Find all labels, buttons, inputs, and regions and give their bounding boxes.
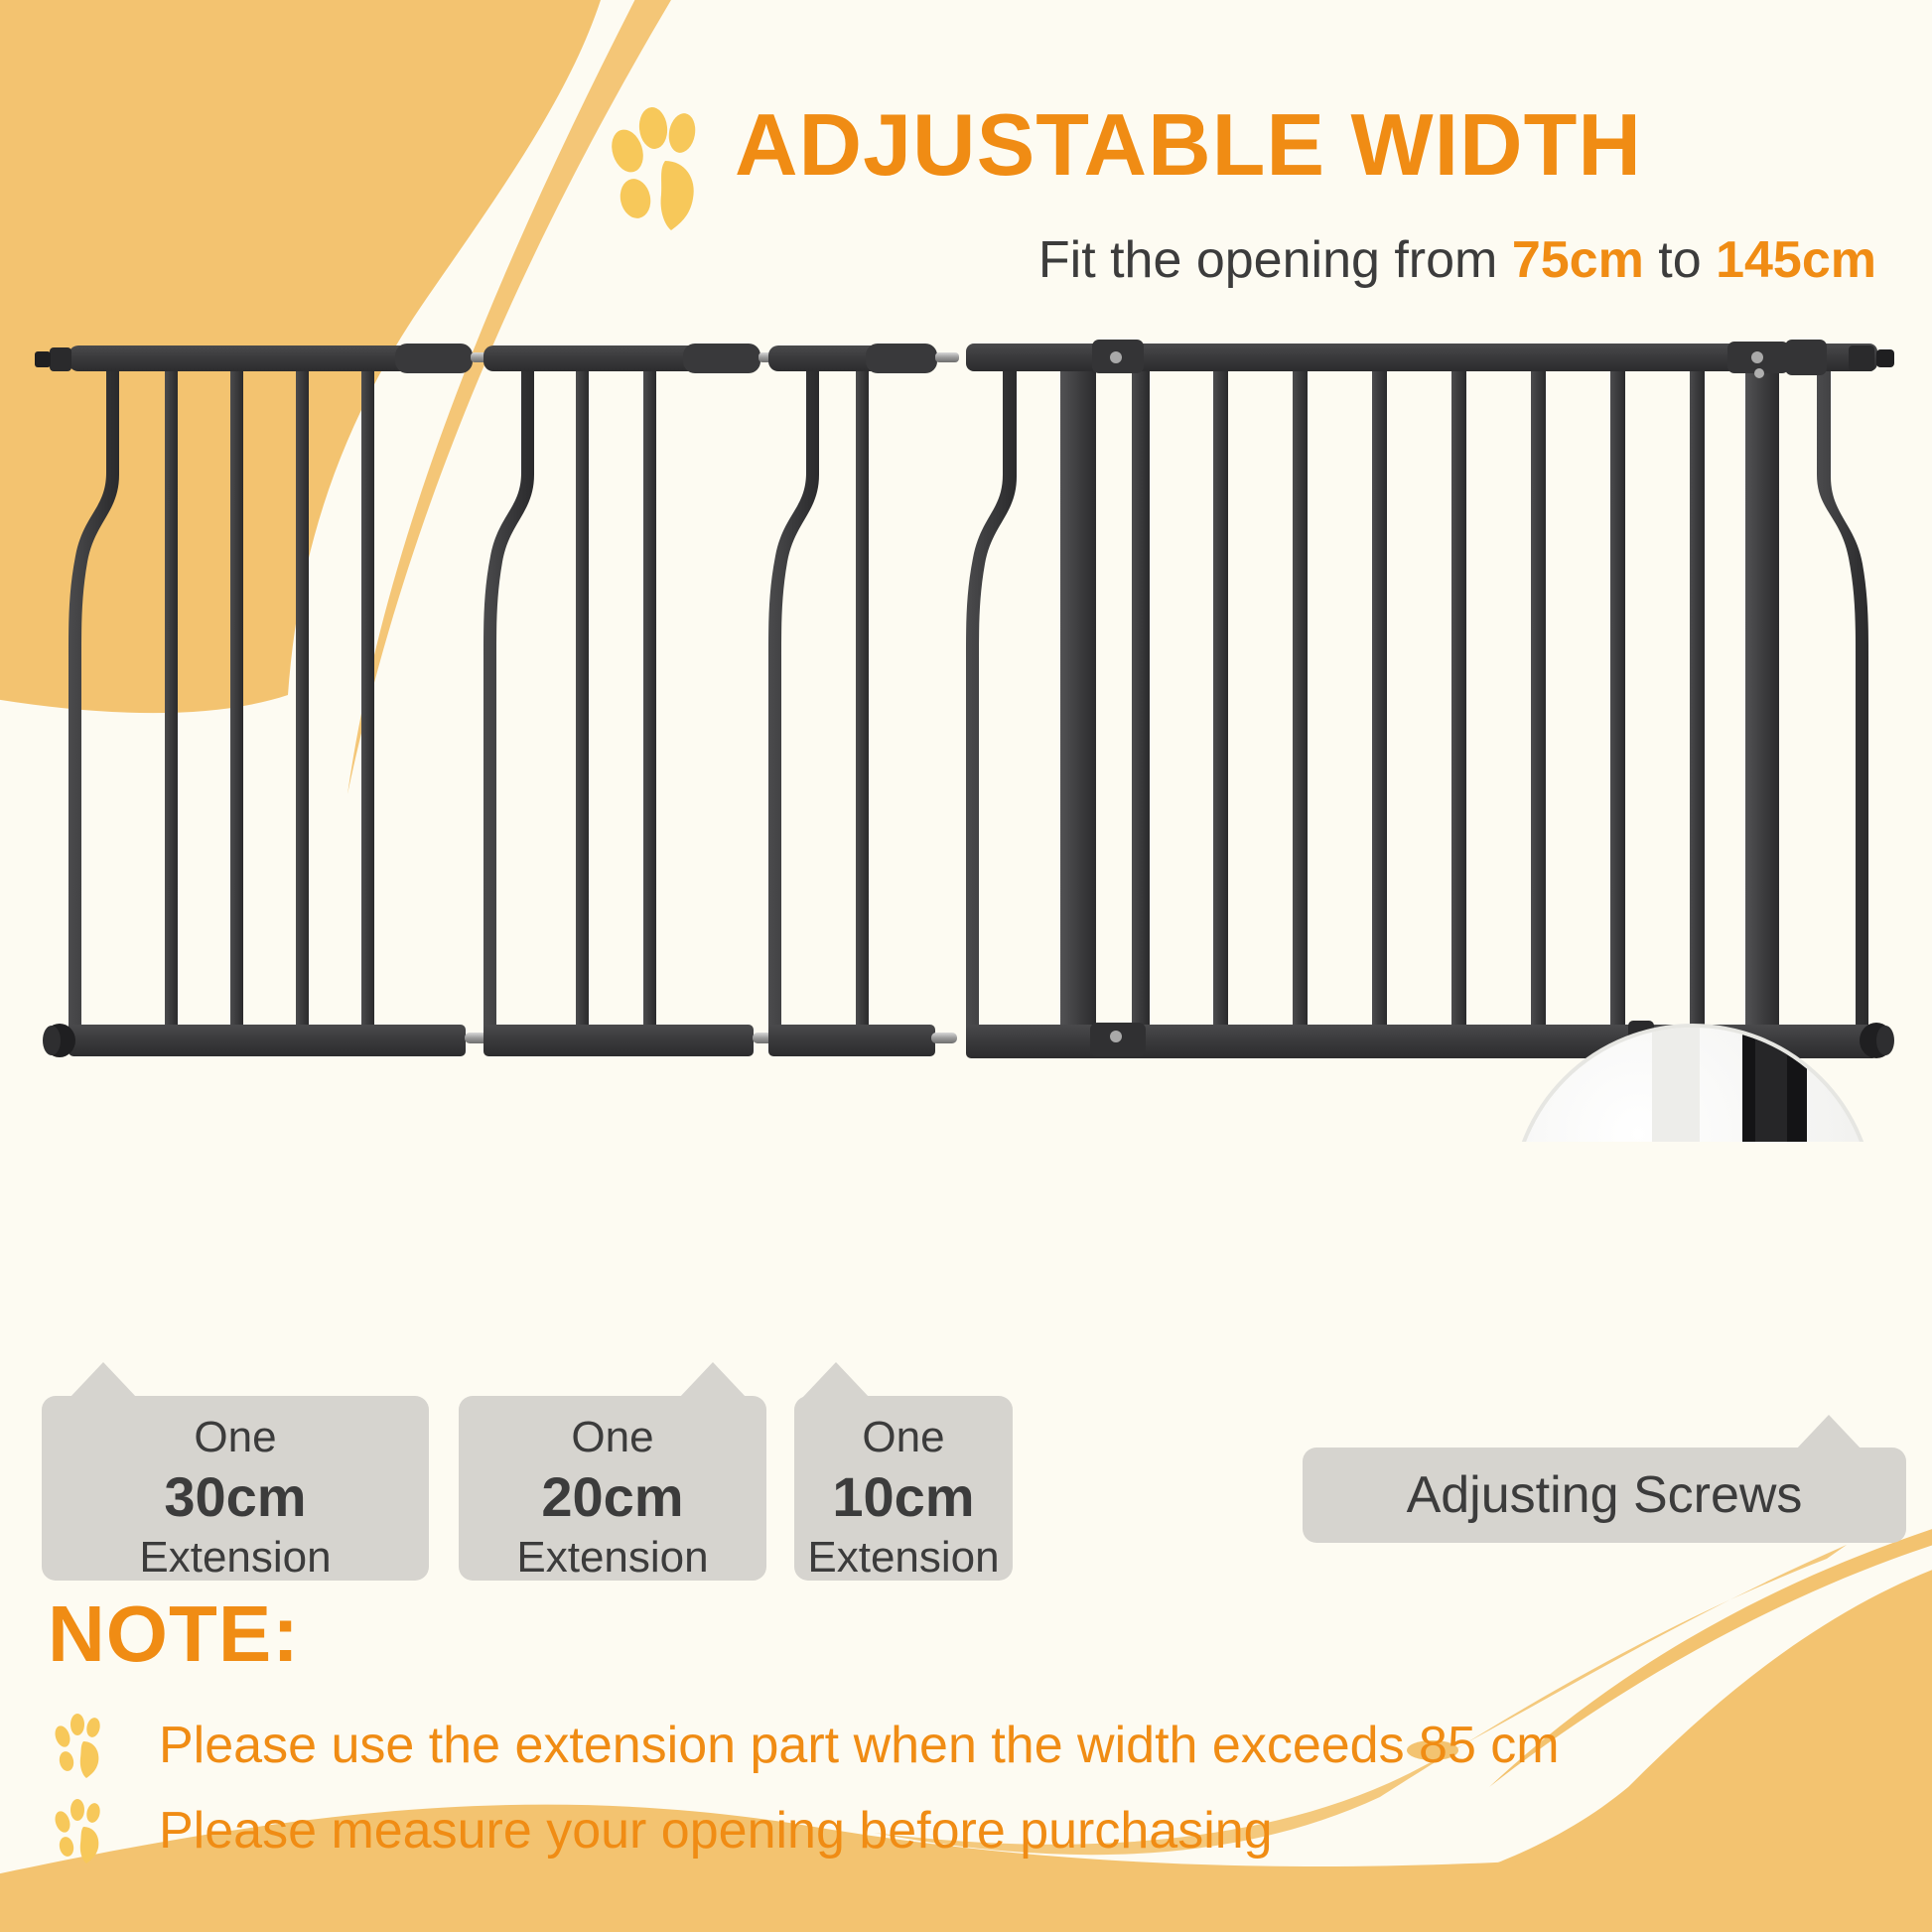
callout-line-3: Extension (794, 1529, 1013, 1587)
note-block: NOTE: Please use the extension part when… (0, 1588, 1932, 1932)
callout-line-2: 10cm (794, 1465, 1013, 1529)
gate-hinge-bracket-bottom (1090, 1023, 1146, 1056)
subtitle: Fit the opening from 75cm to 145cm (0, 230, 1876, 290)
adjusting-screw-top-left (35, 347, 71, 371)
adjusting-screw-bottom-left (43, 1024, 75, 1057)
adjusting-screw-top-right (1849, 345, 1894, 371)
callout-line-1: One (794, 1410, 1013, 1465)
paw-print-icon (54, 1714, 109, 1779)
callout-arrow (69, 1362, 137, 1398)
gate-hinge-bracket-top (1092, 340, 1144, 373)
gate-latch-bracket-top (1727, 340, 1827, 378)
callout-line-3: Extension (42, 1529, 429, 1587)
adjusting-screw-bottom-right (1860, 1023, 1894, 1058)
callout-arrow (802, 1362, 870, 1398)
subtitle-min-width: 75cm (1512, 231, 1644, 289)
extension-panel-20cm (483, 344, 782, 1056)
extension-panel-30cm (35, 344, 494, 1057)
gate-hinge-post (1060, 355, 1096, 1040)
paw-print-icon (610, 107, 713, 232)
callout-adjusting-screws: Adjusting Screws (1303, 1448, 1906, 1543)
title-row: ADJUSTABLE WIDTH (735, 95, 1906, 205)
note-text: Please use the extension part when the w… (159, 1716, 1560, 1775)
note-heading: NOTE: (48, 1588, 300, 1680)
page-title: ADJUSTABLE WIDTH (735, 95, 1906, 195)
callout-labels: One 30cm Extension One 20cm Extension On… (0, 1370, 1932, 1579)
callout-arrow (1795, 1415, 1863, 1450)
main-gate (966, 340, 1894, 1060)
callout-line-2: 20cm (459, 1465, 766, 1529)
callout-line-1: One (459, 1410, 766, 1465)
gate-latch-post (1745, 355, 1779, 1040)
subtitle-max-width: 145cm (1716, 231, 1876, 289)
extension-panel-10cm (768, 344, 959, 1056)
callout-extension-30cm: One 30cm Extension (42, 1396, 429, 1581)
callout-arrow (679, 1362, 747, 1398)
callout-label: Adjusting Screws (1303, 1448, 1906, 1543)
subtitle-middle: to (1644, 231, 1716, 289)
header: ADJUSTABLE WIDTH Fit the opening from 75… (0, 0, 1932, 328)
callout-extension-10cm: One 10cm Extension (794, 1396, 1013, 1581)
callout-line-3: Extension (459, 1529, 766, 1587)
callout-line-2: 30cm (42, 1465, 429, 1529)
product-image (0, 328, 1932, 1142)
note-text: Please measure your opening before purch… (159, 1801, 1273, 1861)
callout-line-1: One (42, 1410, 429, 1465)
callout-extension-20cm: One 20cm Extension (459, 1396, 766, 1581)
safety-gate-illustration (0, 328, 1932, 1142)
subtitle-prefix: Fit the opening from (1038, 231, 1512, 289)
paw-print-icon (54, 1799, 109, 1864)
